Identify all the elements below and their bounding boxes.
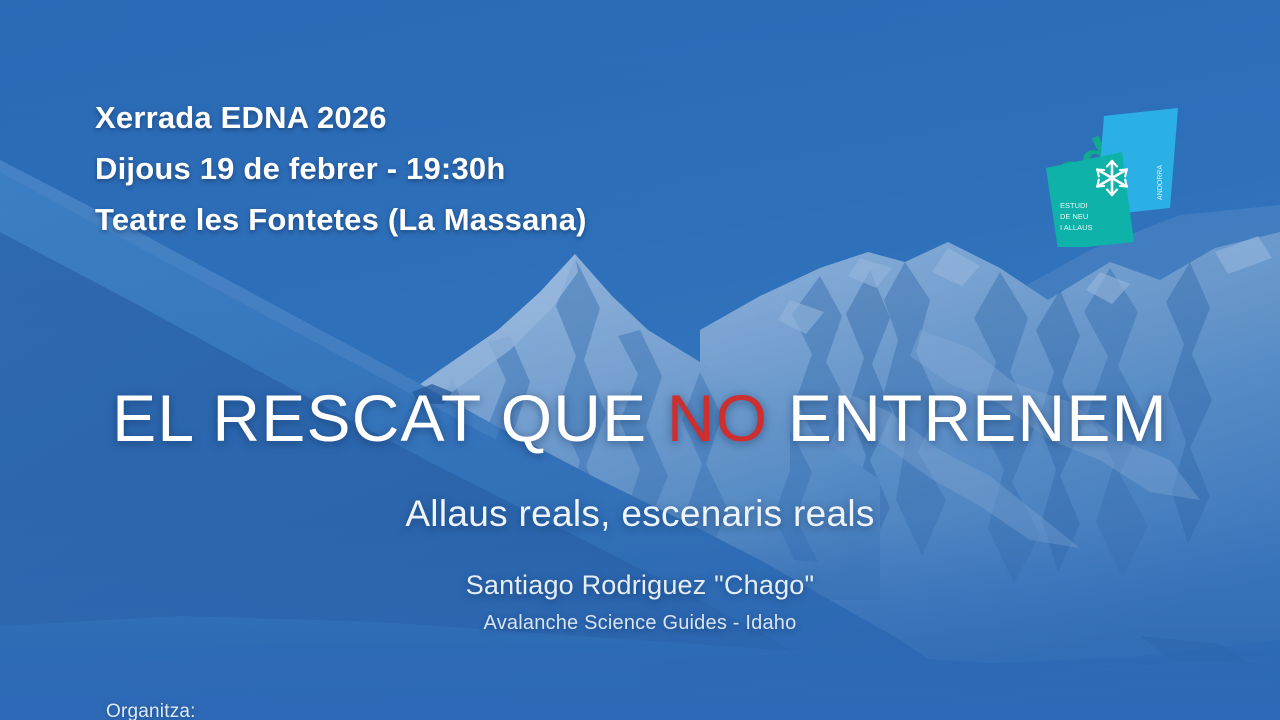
speaker-name: Santiago Rodriguez "Chago" [0,569,1280,602]
edna-logo: ed na ANDORRA ESTUDI DE NEU I ALLAUS [1038,82,1190,247]
event-header: Xerrada EDNA 2026 Dijous 19 de febrer - … [95,92,587,245]
event-date-line: Dijous 19 de febrer - 19:30h [95,143,587,194]
logo-shape-left: ESTUDI DE NEU I ALLAUS [1046,152,1134,247]
poster-main-title: EL RESCAT QUE NO ENTRENEM [0,382,1280,454]
logo-vertical-label: ANDORRA [1157,165,1164,200]
logo-tagline-line-3: I ALLAUS [1060,223,1093,232]
event-venue-line: Teatre les Fontetes (La Massana) [95,194,587,245]
speaker-affiliation: Avalanche Science Guides - Idaho [0,610,1280,636]
logo-tagline-line-1: ESTUDI [1060,201,1088,210]
event-title-line: Xerrada EDNA 2026 [95,92,587,143]
logo-tagline-line-2: DE NEU [1060,212,1088,221]
event-poster: Xerrada EDNA 2026 Dijous 19 de febrer - … [0,0,1280,720]
poster-subtitle: Allaus reals, escenaris reals [0,492,1280,536]
title-part-2: ENTRENEM [768,381,1168,455]
organizer-label: Organitza: [106,700,196,720]
title-highlight-no: NO [667,381,768,455]
title-part-1: EL RESCAT QUE [112,381,667,455]
